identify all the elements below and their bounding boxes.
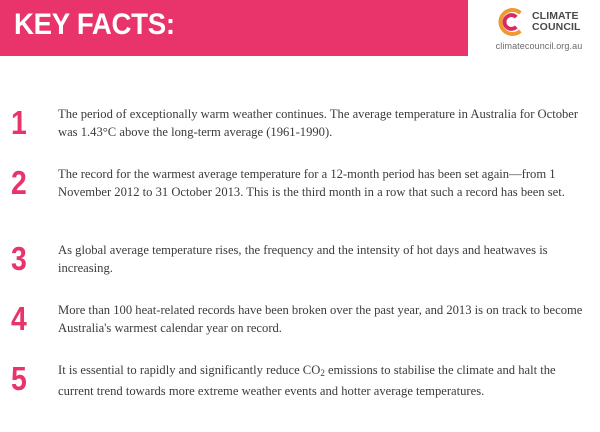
brand-logo: CLIMATE COUNCIL climatecouncil.org.au: [478, 0, 600, 56]
fact-text: As global average temperature rises, the…: [58, 242, 586, 278]
fact-number: 3: [11, 242, 42, 275]
logo-wordmark: CLIMATE COUNCIL: [532, 11, 581, 34]
fact-text: It is essential to rapidly and significa…: [58, 362, 586, 401]
climate-council-c-mark-icon: [496, 7, 526, 37]
logo-wordmark-line1: CLIMATE: [532, 10, 579, 22]
fact-number: 5: [11, 362, 42, 395]
fact-number: 1: [11, 106, 42, 139]
page-header: KEY FACTS: CLIMATE COUNCIL climatecounci…: [0, 0, 600, 56]
fact-text-part1: It is essential to rapidly and significa…: [58, 363, 320, 377]
fact-text: The period of exceptionally warm weather…: [58, 106, 586, 142]
website-url[interactable]: climatecouncil.org.au: [478, 41, 600, 51]
logo-lockup: CLIMATE COUNCIL: [496, 7, 581, 37]
fact-text: The record for the warmest average tempe…: [58, 166, 586, 202]
fact-text: More than 100 heat-related records have …: [58, 302, 586, 338]
fact-number: 2: [11, 166, 42, 199]
page-title: KEY FACTS:: [14, 8, 175, 42]
logo-wordmark-line2: COUNCIL: [532, 21, 581, 33]
fact-number: 4: [11, 302, 42, 335]
